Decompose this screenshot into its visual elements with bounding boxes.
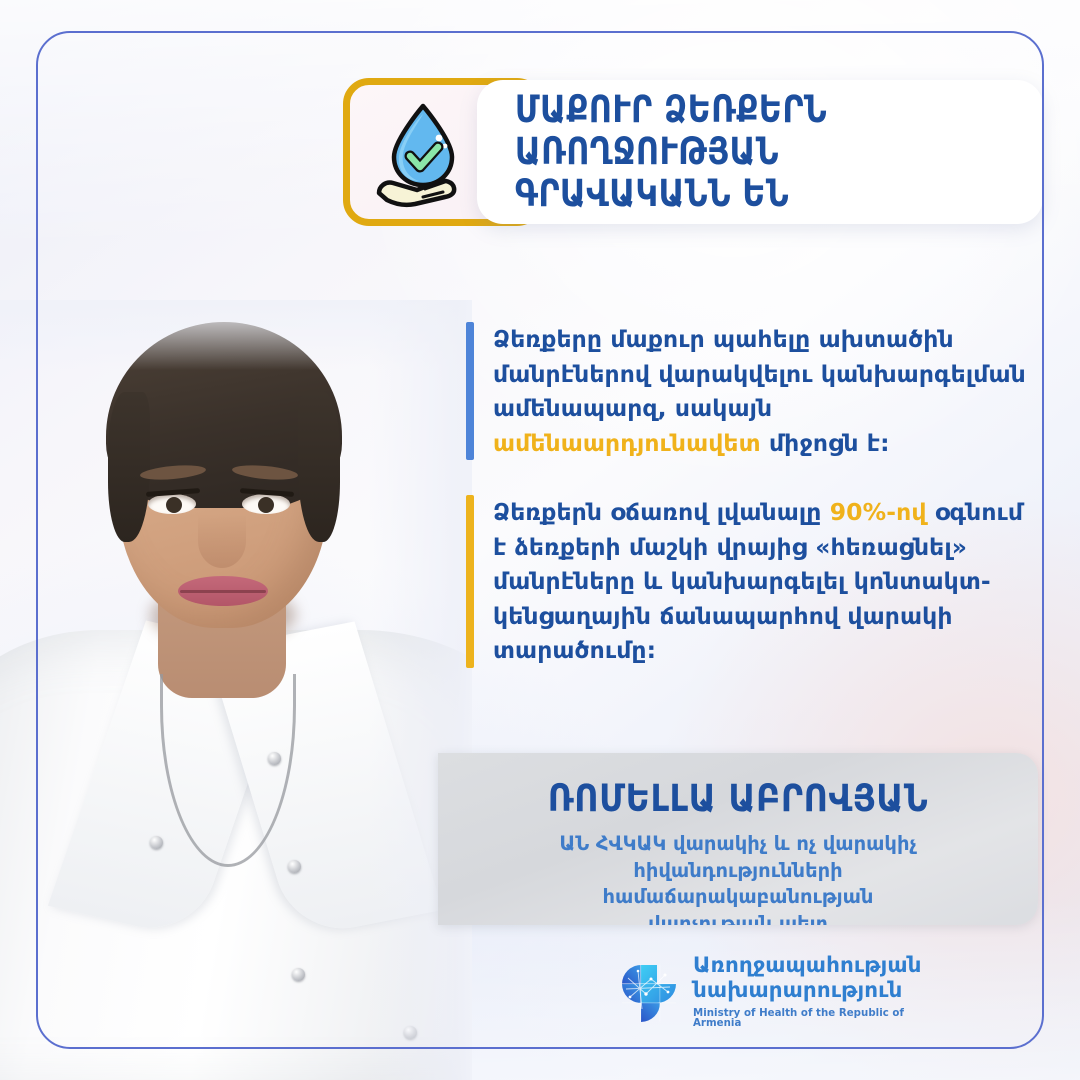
paragraph-block-2: Ձեռքերն օճառով լվանալը 90%-ով օգնում է ձ… bbox=[466, 495, 1026, 668]
photo-illustration bbox=[0, 300, 472, 1080]
paragraph-1-tail: միջոցն է: bbox=[761, 429, 890, 457]
logo-text-hy: Առողջապահության նախարարություն bbox=[693, 954, 922, 1004]
logo-wordmark: Առողջապահության նախարարություն Ministry … bbox=[693, 954, 922, 1029]
paragraph-block-1: Ձեռքերը մաքուր պահելը ախտածին մանրէներով… bbox=[466, 322, 1026, 460]
paragraph-accent-bar-blue bbox=[466, 322, 474, 460]
paragraph-1-text: Ձեռքերը մաքուր պահելը ախտածին մանրէներով… bbox=[493, 322, 1026, 460]
speaker-photo bbox=[0, 300, 472, 1080]
paragraph-2-text: Ձեռքերն օճառով լվանալը 90%-ով օգնում է ձ… bbox=[493, 495, 1026, 668]
paragraph-accent-bar-gold bbox=[466, 495, 474, 668]
infographic-canvas: ՄԱՔՈՒՐ ՁԵՌՔԵՐՆ ԱՌՈՂՋՈՒԹՅԱՆ ԳՐԱՎԱԿԱՆՆ ԵՆ … bbox=[0, 0, 1080, 1080]
speaker-name-panel: ՌՈՄԵԼԼԱ ԱԲՐՈՎՅԱՆ ԱՆ ՀՎԿԱԿ վարակիչ և ոչ վ… bbox=[438, 753, 1038, 925]
header-title: ՄԱՔՈՒՐ ՁԵՌՔԵՐՆ ԱՌՈՂՋՈՒԹՅԱՆ ԳՐԱՎԱԿԱՆՆ ԵՆ bbox=[477, 89, 964, 216]
paragraph-2-lead: Ձեռքերն օճառով լվանալը bbox=[493, 498, 830, 526]
photo-edge-fade bbox=[0, 300, 472, 1080]
ministry-logo: Առողջապահության նախարարություն Ministry … bbox=[618, 956, 890, 1028]
header-badge: ՄԱՔՈՒՐ ՁԵՌՔԵՐՆ ԱՌՈՂՋՈՒԹՅԱՆ ԳՐԱՎԱԿԱՆՆ ԵՆ bbox=[343, 78, 1043, 226]
water-drop-check-on-hand-icon bbox=[365, 94, 483, 212]
speaker-role: ԱՆ ՀՎԿԱԿ վարակիչ և ոչ վարակիչ հիվանդությ… bbox=[438, 831, 1038, 925]
speaker-name: ՌՈՄԵԼԼԱ ԱԲՐՈՎՅԱՆ bbox=[468, 777, 1008, 820]
header-card: ՄԱՔՈՒՐ ՁԵՌՔԵՐՆ ԱՌՈՂՋՈՒԹՅԱՆ ԳՐԱՎԱԿԱՆՆ ԵՆ bbox=[477, 80, 1043, 224]
logo-text-en: Ministry of Health of the Republic of Ar… bbox=[693, 1009, 922, 1029]
paragraph-2-highlight: 90%-ով bbox=[830, 498, 927, 526]
paragraph-1-lead: Ձեռքերը մաքուր պահելը ախտածին մանրէներով… bbox=[493, 325, 1026, 422]
paragraph-1-highlight: ամենաարդյունավետ bbox=[493, 429, 761, 457]
health-cross-network-icon bbox=[618, 961, 680, 1023]
